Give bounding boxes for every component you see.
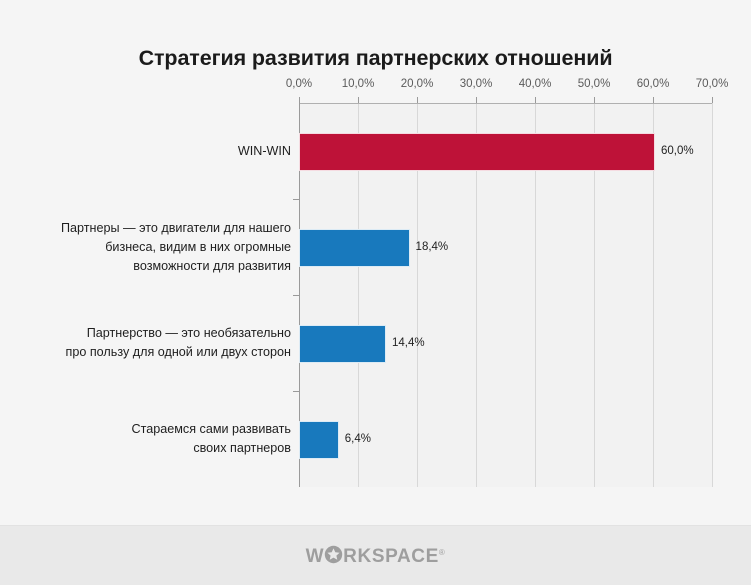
category-label: Партнеры — это двигатели для нашегобизне… [11, 219, 291, 276]
bar-value-label: 60,0% [661, 133, 694, 169]
watermark-trademark: ® [439, 548, 446, 557]
category-label-line: своих партнеров [11, 439, 291, 458]
category-label-line: WIN-WIN [11, 142, 291, 161]
x-tick-mark [476, 97, 477, 103]
y-tick-mark [293, 391, 299, 392]
x-tick-label: 50,0% [578, 78, 611, 90]
x-tick-label: 30,0% [460, 78, 493, 90]
chart-canvas: Стратегия развития партнерских отношений… [0, 0, 751, 525]
star-icon [324, 545, 343, 570]
x-tick-label: 20,0% [401, 78, 434, 90]
category-label-line: возможности для развития [11, 257, 291, 276]
bar [299, 133, 655, 171]
chart-title: Стратегия развития партнерских отношений [0, 46, 751, 71]
x-tick-mark [712, 97, 713, 103]
category-label-line: Стараемся сами развивать [11, 420, 291, 439]
x-tick-mark [417, 97, 418, 103]
x-tick-mark [594, 97, 595, 103]
watermark-text-pre: W [306, 546, 325, 567]
category-label-line: бизнеса, видим в них огромные [11, 238, 291, 257]
bar-value-label: 14,4% [392, 325, 425, 361]
x-tick-label: 60,0% [637, 78, 670, 90]
category-label: Партнерство — это необязательнопро польз… [11, 324, 291, 362]
footer-band: WRKSPACE® [0, 525, 751, 585]
category-label-line: Партнеры — это двигатели для нашего [11, 219, 291, 238]
bar [299, 229, 410, 267]
category-label-line: Партнерство — это необязательно [11, 324, 291, 343]
x-axis-line [299, 103, 712, 104]
category-label-line: про пользу для одной или двух сторон [11, 343, 291, 362]
bar-value-label: 6,4% [345, 421, 371, 457]
y-tick-mark [293, 199, 299, 200]
bar [299, 421, 339, 459]
bar [299, 325, 386, 363]
category-label: Стараемся сами развиватьсвоих партнеров [11, 420, 291, 458]
x-tick-label: 10,0% [342, 78, 375, 90]
category-label: WIN-WIN [11, 142, 291, 161]
category-axis-labels: WIN-WINПартнеры — это двигатели для наше… [9, 103, 291, 487]
x-tick-mark [535, 97, 536, 103]
x-tick-label: 0,0% [286, 78, 312, 90]
x-tick-label: 70,0% [696, 78, 729, 90]
bar-value-label: 18,4% [416, 229, 449, 265]
x-tick-mark [299, 97, 300, 103]
watermark-text-post: RKSPACE [343, 546, 439, 567]
y-tick-mark [293, 295, 299, 296]
x-tick-mark [653, 97, 654, 103]
gridline [712, 103, 713, 487]
plot-area: 0,0%10,0%20,0%30,0%40,0%50,0%60,0%70,0% … [299, 103, 712, 487]
x-tick-mark [358, 97, 359, 103]
x-tick-label: 40,0% [519, 78, 552, 90]
workspace-watermark: WRKSPACE® [0, 545, 751, 570]
